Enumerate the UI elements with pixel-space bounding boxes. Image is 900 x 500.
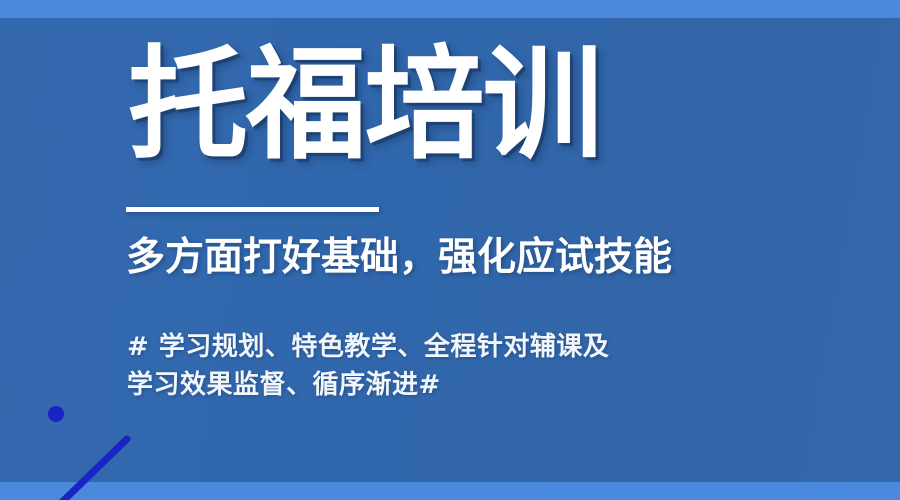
page-title: 托福培训 [128, 44, 601, 166]
tagline-block: # 学习规划、特色教学、全程针对辅课及 学习效果监督、循序渐进# [127, 328, 609, 404]
subtitle-text: 多方面打好基础，强化应试技能 [126, 236, 672, 281]
tagline-line-1: # 学习规划、特色教学、全程针对辅课及 [127, 328, 609, 366]
tagline-line-2: 学习效果监督、循序渐进# [127, 366, 609, 404]
title-divider [126, 207, 379, 212]
poster-content: 托福培训 多方面打好基础，强化应试技能 # 学习规划、特色教学、全程针对辅课及 … [0, 0, 900, 500]
poster-banner: 托福培训 多方面打好基础，强化应试技能 # 学习规划、特色教学、全程针对辅课及 … [0, 0, 900, 500]
